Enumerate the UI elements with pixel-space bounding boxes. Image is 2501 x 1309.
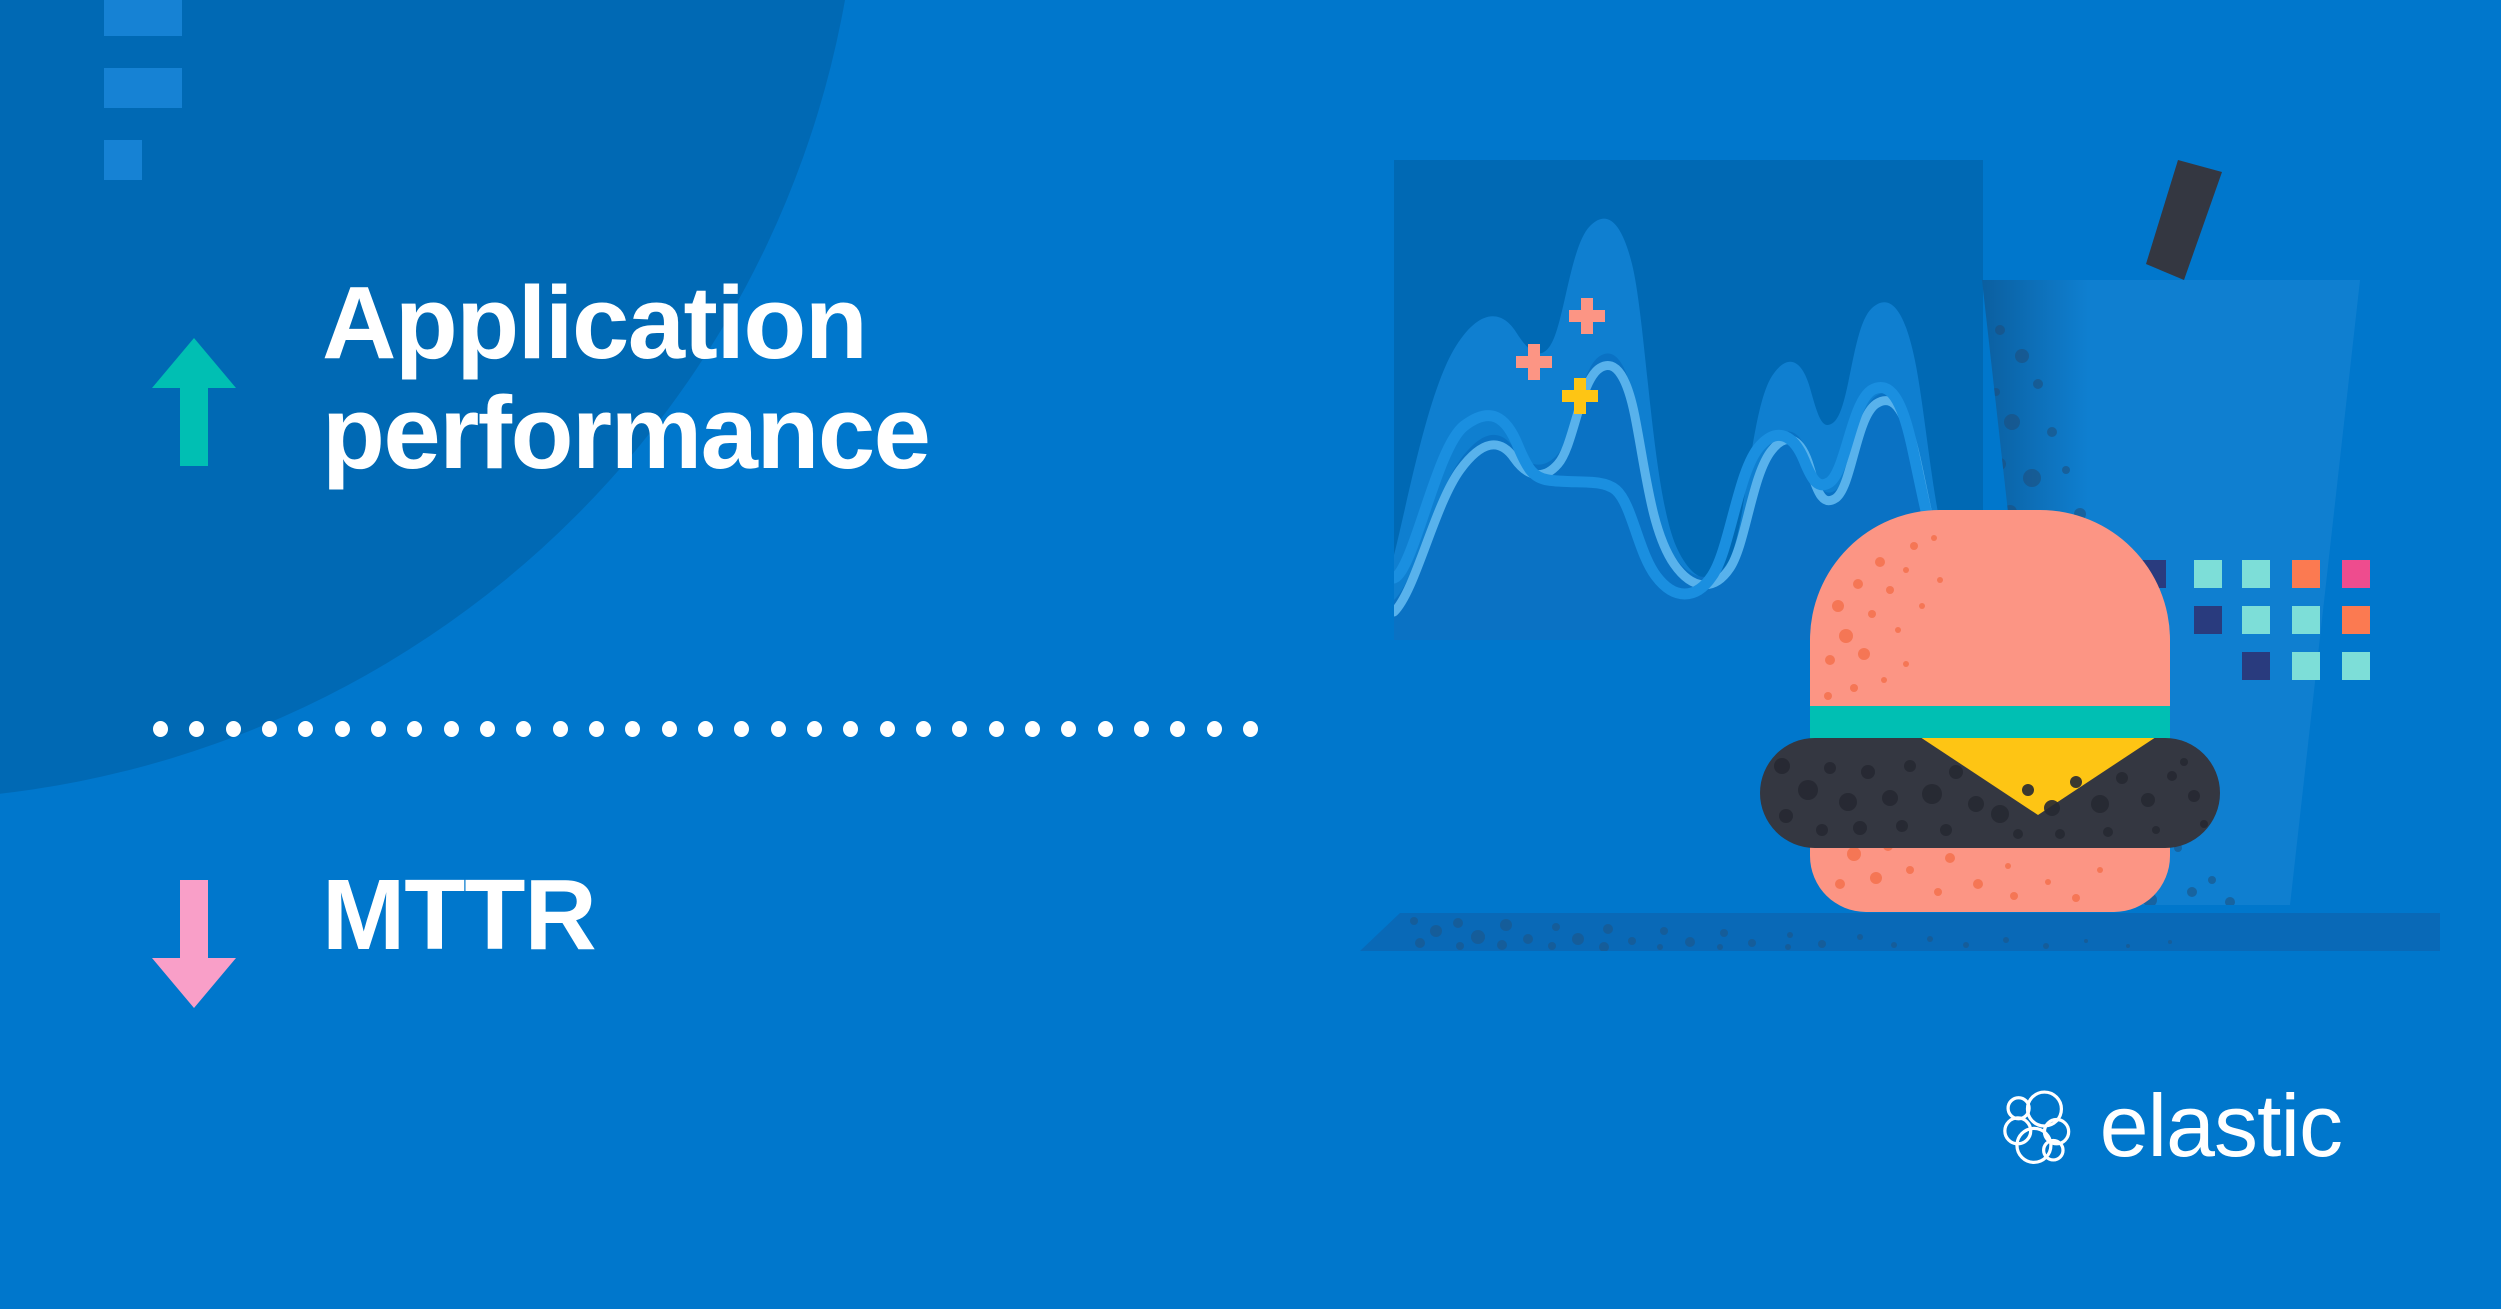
page-title: Application performance	[322, 268, 1282, 488]
elastic-logo[interactable]: elastic	[2000, 1078, 2342, 1174]
burger-illustration	[1760, 510, 2220, 920]
patty-layer	[1760, 738, 2220, 848]
tray-illustration	[1360, 913, 2440, 962]
cheese-layer	[1920, 738, 2156, 815]
elastic-wordmark: elastic	[2100, 1082, 2342, 1170]
arrow-up-icon	[152, 338, 236, 466]
lettuce-layer	[1810, 706, 2170, 740]
metric-label-mttr: MTTR	[322, 862, 596, 969]
poster-canvas: Application performance MTTR	[0, 0, 2501, 1309]
dotted-divider	[153, 721, 1258, 737]
elastic-mark-icon	[2000, 1078, 2078, 1174]
straw-icon	[2146, 160, 2222, 280]
message-block: Application performance MTTR	[0, 0, 1340, 1309]
arrow-down-icon	[152, 880, 236, 1008]
